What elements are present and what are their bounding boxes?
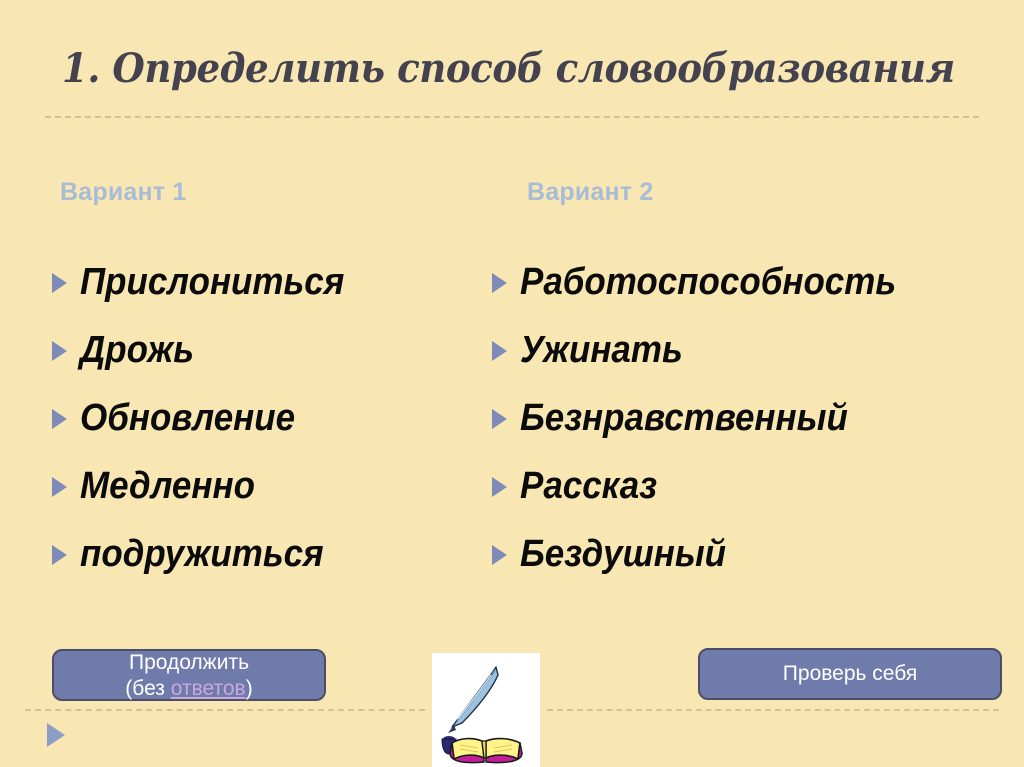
list-item: Прислониться xyxy=(52,248,482,316)
footer-triangle-bullet-icon xyxy=(47,723,65,747)
continue-sublabel-prefix: (без xyxy=(125,677,170,700)
list-item-label: Бездушный xyxy=(520,533,726,575)
triangle-bullet-icon xyxy=(52,409,67,429)
triangle-bullet-icon xyxy=(52,545,67,565)
list-item: Дрожь xyxy=(52,316,482,384)
continue-without-answers-button[interactable]: Продолжить (без ответов) xyxy=(52,649,326,701)
list-item-label: Работоспособность xyxy=(520,261,896,303)
triangle-bullet-icon xyxy=(492,477,507,497)
list-item-label: Ужинать xyxy=(520,329,683,371)
page-title: 1. Определить способ словообразования xyxy=(62,44,927,94)
word-list-variant-2: Работоспособность Ужинать Безнравственны… xyxy=(492,248,1012,588)
list-item: подружиться xyxy=(52,520,482,588)
slide-canvas: 1. Определить способ словообразования Ва… xyxy=(0,0,1024,767)
list-item-label: Рассказ xyxy=(520,465,657,507)
list-item: Ужинать xyxy=(492,316,1012,384)
list-item: Рассказ xyxy=(492,452,1012,520)
list-item-label: подружиться xyxy=(80,533,324,575)
column-heading-variant-1: Вариант 1 xyxy=(60,178,187,207)
triangle-bullet-icon xyxy=(52,273,67,293)
continue-sublabel-suffix: ) xyxy=(246,677,253,700)
triangle-bullet-icon xyxy=(492,545,507,565)
triangle-bullet-icon xyxy=(492,341,507,361)
list-item: Безнравственный xyxy=(492,384,1012,452)
column-heading-variant-2: Вариант 2 xyxy=(527,178,654,207)
list-item-label: Безнравственный xyxy=(520,397,848,439)
list-item: Работоспособность xyxy=(492,248,1012,316)
triangle-bullet-icon xyxy=(52,477,67,497)
continue-button-sublabel: (без ответов) xyxy=(125,676,252,702)
answers-link[interactable]: ответов xyxy=(171,677,246,700)
check-yourself-button[interactable]: Проверь себя xyxy=(698,648,1002,700)
triangle-bullet-icon xyxy=(492,409,507,429)
title-divider xyxy=(45,116,979,118)
list-item-label: Прислониться xyxy=(80,261,344,303)
quill-pen-inkwell-open-book-icon xyxy=(432,653,540,767)
triangle-bullet-icon xyxy=(492,273,507,293)
list-item: Обновление xyxy=(52,384,482,452)
list-item: Медленно xyxy=(52,452,482,520)
triangle-bullet-icon xyxy=(52,341,67,361)
list-item-label: Обновление xyxy=(80,397,295,439)
footer-divider-right xyxy=(547,709,999,711)
continue-button-label: Продолжить xyxy=(129,650,249,676)
list-item: Бездушный xyxy=(492,520,1012,588)
list-item-label: Дрожь xyxy=(80,329,194,371)
footer-divider-left xyxy=(25,709,425,711)
list-item-label: Медленно xyxy=(80,465,255,507)
check-button-label: Проверь себя xyxy=(783,661,917,687)
word-list-variant-1: Прислониться Дрожь Обновление Медленно п… xyxy=(52,248,482,588)
